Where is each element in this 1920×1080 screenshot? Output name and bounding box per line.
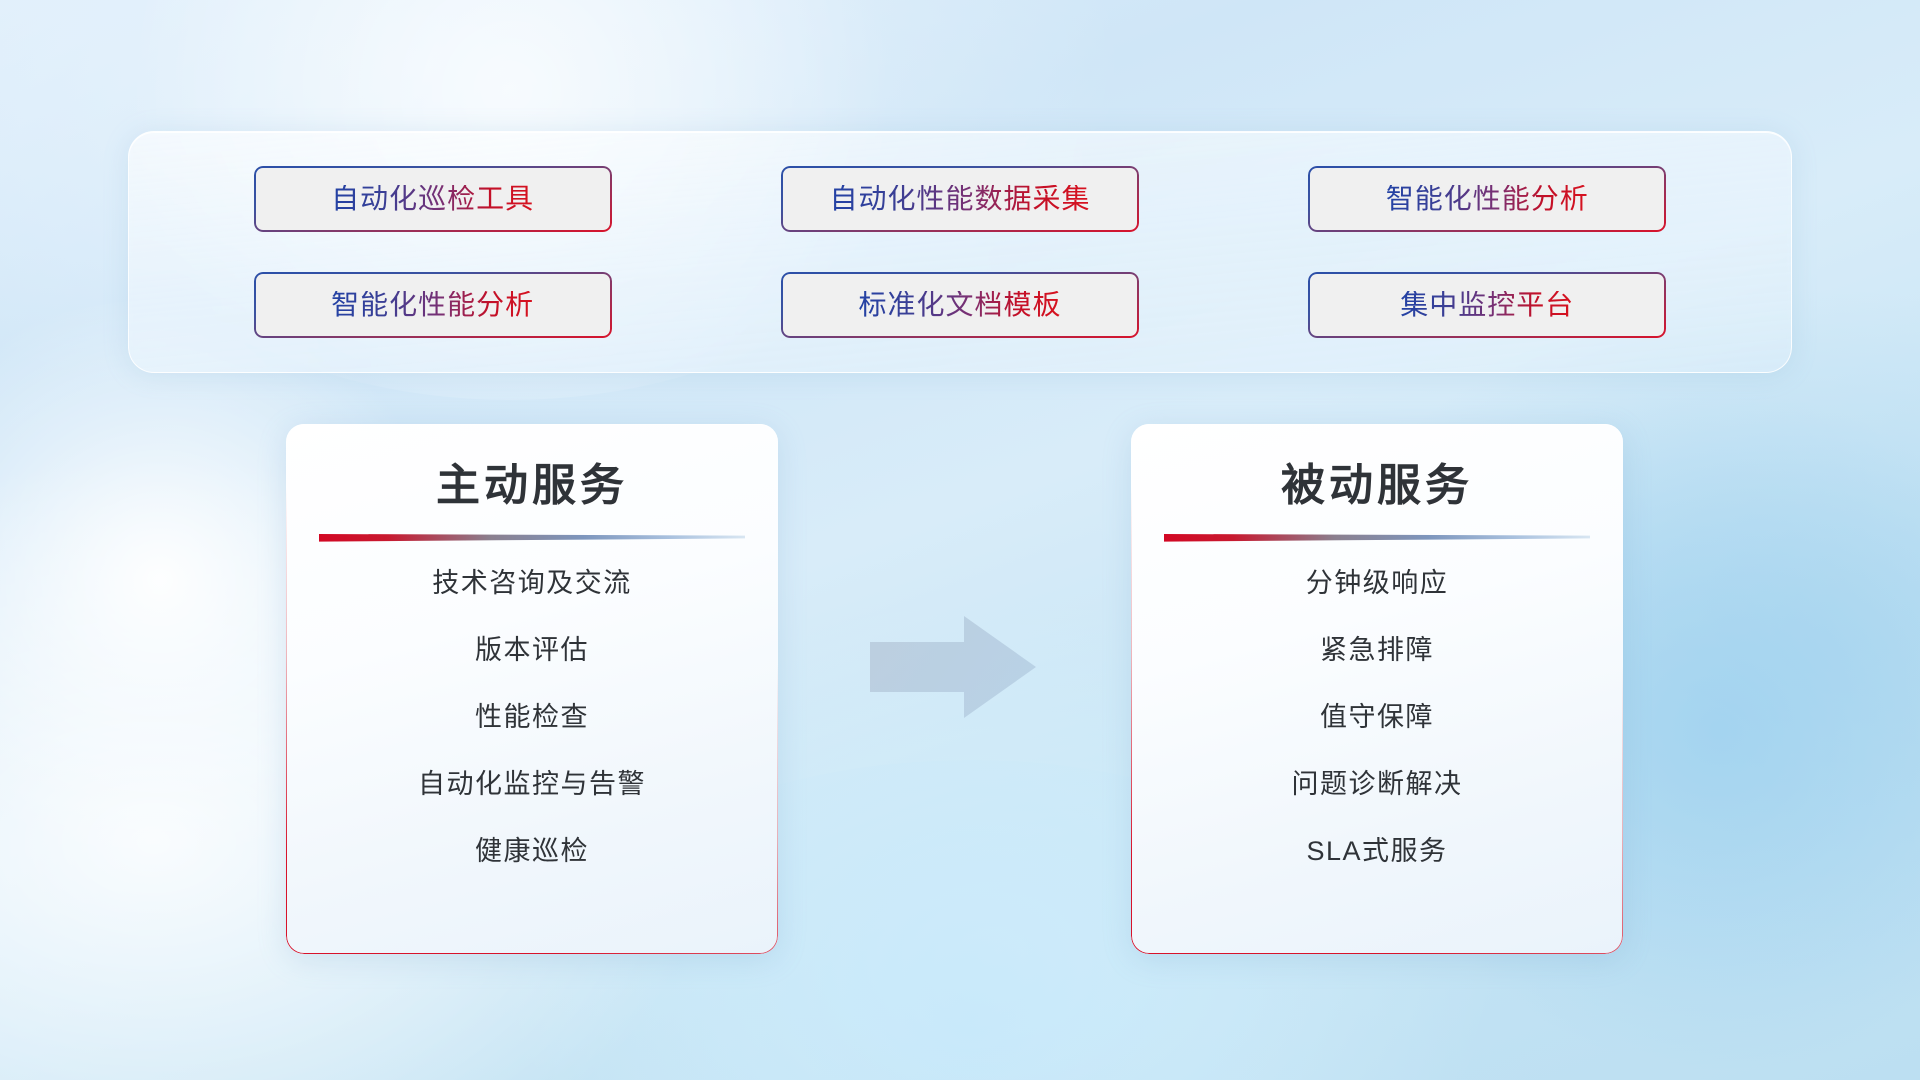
capability-panel: 自动化巡检工具 自动化性能数据采集 智能化性能分析 智能化性能分析 标准化文档模… [128, 131, 1792, 373]
service-item-list: 技术咨询及交流 版本评估 性能检查 自动化监控与告警 健康巡检 [286, 570, 778, 865]
list-item: 版本评估 [286, 637, 778, 664]
capability-button-label: 智能化性能分析 [1386, 185, 1589, 213]
card-title: 主动服务 [286, 462, 778, 510]
capability-button-label: 自动化性能数据采集 [829, 185, 1090, 213]
list-item: 值守保障 [1131, 704, 1623, 731]
capability-button-label: 标准化文档模板 [858, 291, 1061, 319]
slide-canvas: 自动化巡检工具 自动化性能数据采集 智能化性能分析 智能化性能分析 标准化文档模… [0, 0, 1920, 1080]
list-item: 技术咨询及交流 [286, 570, 778, 597]
capability-button-label: 智能化性能分析 [331, 291, 534, 319]
service-item-list: 分钟级响应 紧急排障 值守保障 问题诊断解决 SLA式服务 [1131, 570, 1623, 865]
list-item: 分钟级响应 [1131, 570, 1623, 597]
capability-button-2[interactable]: 自动化性能数据采集 [781, 166, 1139, 232]
capability-button-label: 自动化巡检工具 [331, 185, 534, 213]
service-card-reactive: 被动服务 分钟级响应 紧急排障 值守保障 [1131, 424, 1623, 954]
list-item: 问题诊断解决 [1131, 771, 1623, 798]
capability-button-6[interactable]: 集中监控平台 [1308, 272, 1666, 338]
capability-button-5[interactable]: 标准化文档模板 [781, 272, 1139, 338]
capability-button-3[interactable]: 智能化性能分析 [1308, 166, 1666, 232]
list-item: 健康巡检 [286, 838, 778, 865]
title-divider [1164, 532, 1590, 542]
service-card-proactive: 主动服务 技术咨询及交流 版本评估 性能检查 [286, 424, 778, 954]
capability-button-4[interactable]: 智能化性能分析 [254, 272, 612, 338]
list-item: 自动化监控与告警 [286, 771, 778, 798]
arrow-right-icon [868, 612, 1038, 722]
list-item: SLA式服务 [1131, 838, 1623, 865]
list-item: 紧急排障 [1131, 637, 1623, 664]
card-title: 被动服务 [1131, 462, 1623, 510]
capability-button-label: 集中监控平台 [1400, 291, 1574, 319]
title-divider [319, 532, 745, 542]
capability-button-1[interactable]: 自动化巡检工具 [254, 166, 612, 232]
list-item: 性能检查 [286, 704, 778, 731]
